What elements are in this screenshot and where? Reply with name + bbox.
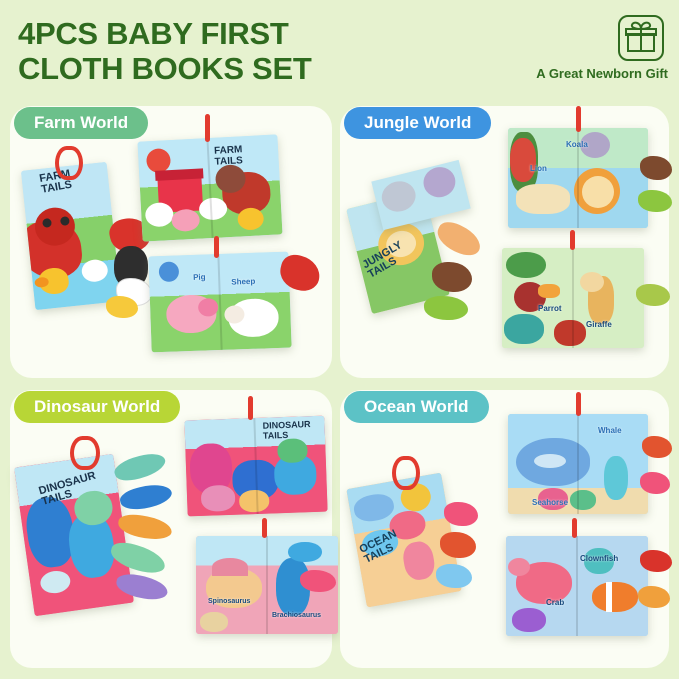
dinosaur-spread2-ribbon — [262, 518, 267, 538]
jungle-spread-ribbon — [576, 106, 581, 132]
jungle-label-giraffe: Giraffe — [586, 320, 612, 329]
jungle-label-lion: Lion — [530, 164, 547, 173]
ocean-label-crab: Crab — [546, 598, 564, 607]
dinosaur-tail-2 — [118, 480, 174, 514]
farm-spread2-ribbon — [214, 236, 219, 258]
jungle-spread-parrot-giraffe: Parrot Giraffe — [502, 248, 644, 348]
ocean-spread-ribbon — [576, 392, 581, 416]
farm-spread-pig-sheep: Pig Sheep — [148, 252, 291, 353]
dinosaur-label-spinosaurus: Spinosaurus — [208, 598, 250, 605]
jungle-tail-right-2 — [638, 190, 672, 212]
ocean-label-clownfish: Clownfish — [580, 554, 618, 563]
dinosaur-tail-3 — [117, 512, 174, 541]
badge-dinosaur-world[interactable]: Dinosaur World — [14, 391, 180, 423]
dinosaur-tail-1 — [112, 448, 168, 486]
panel-farm-world: FARM TAILS FARM TAILS — [10, 106, 332, 378]
farm-spread-title: FARM TAILS — [214, 143, 271, 168]
jungle-tail-monkey — [433, 217, 486, 260]
farm-spread-cover: FARM TAILS — [137, 134, 282, 241]
ocean-tail-right-3 — [640, 550, 672, 572]
dinosaur-cover-ribbon — [70, 436, 100, 470]
farm-tail-duck — [106, 296, 138, 318]
ocean-cover-ribbon — [392, 456, 420, 490]
jungle-tail-elephant — [432, 262, 472, 292]
badge-jungle-world[interactable]: Jungle World — [344, 107, 491, 139]
jungle-label-parrot: Parrot — [538, 304, 562, 313]
dinosaur-label-brachiosaurus: Brachiosaurus — [272, 612, 321, 619]
ocean-label-seahorse: Seahorse — [532, 498, 568, 507]
gift-tagline: A Great Newborn Gift — [536, 66, 668, 81]
dinosaur-spread-cover: DINOSAUR TAILS — [184, 416, 327, 517]
ocean-spread2-ribbon — [572, 518, 577, 538]
badge-farm-world[interactable]: Farm World — [14, 107, 148, 139]
jungle-tail-green — [424, 296, 468, 320]
badge-ocean-world[interactable]: Ocean World — [344, 391, 489, 423]
jungle-spread2-ribbon — [570, 230, 575, 250]
ocean-tail-2 — [440, 532, 476, 558]
dinosaur-cover-book: DINOSAUR TAILS — [14, 454, 134, 616]
jungle-tail-giraffe — [636, 284, 670, 306]
gift-box-icon — [611, 14, 667, 64]
farm-cover-book: FARM TAILS — [21, 162, 121, 310]
jungle-tail-right-1 — [640, 156, 672, 180]
farm-cover-ribbon — [55, 146, 83, 180]
header: 4PCS BABY FIRST CLOTH BOOKS SET A Great … — [0, 0, 679, 100]
farm-label-sheep: Sheep — [231, 277, 255, 287]
panel-dinosaur-world: DINOSAUR TAILS DINOSAUR TAILS — [10, 390, 332, 668]
ocean-tail-1 — [444, 502, 478, 526]
farm-label-pig: Pig — [193, 272, 206, 281]
jungle-spread-lion-koala: Lion Koala — [508, 128, 648, 228]
ocean-label-whale: Whale — [598, 426, 622, 435]
dinosaur-spread-ribbon — [248, 396, 253, 420]
panel-ocean-world: OCEAN TAILS Whale Seahorse — [340, 390, 669, 668]
ocean-tail-right-1 — [642, 436, 672, 458]
jungle-cover-top — [371, 160, 470, 230]
page-title: 4PCS BABY FIRST CLOTH BOOKS SET — [18, 16, 311, 86]
product-infographic: 4PCS BABY FIRST CLOTH BOOKS SET A Great … — [0, 0, 679, 679]
ocean-tail-right-4 — [638, 586, 670, 608]
ocean-tail-3 — [436, 564, 472, 588]
ocean-spread-crab-clownfish: Crab Clownfish — [506, 536, 648, 636]
panel-jungle-world: JUNGLY TAILS Lion Koala — [340, 106, 669, 378]
dinosaur-spread-title: DINOSAUR TAILS — [262, 420, 321, 442]
farm-spread-ribbon — [205, 114, 210, 142]
ocean-tail-right-2 — [640, 472, 670, 494]
dinosaur-tail-right — [300, 570, 336, 592]
ocean-spread-whale-seahorse: Whale Seahorse — [508, 414, 648, 514]
